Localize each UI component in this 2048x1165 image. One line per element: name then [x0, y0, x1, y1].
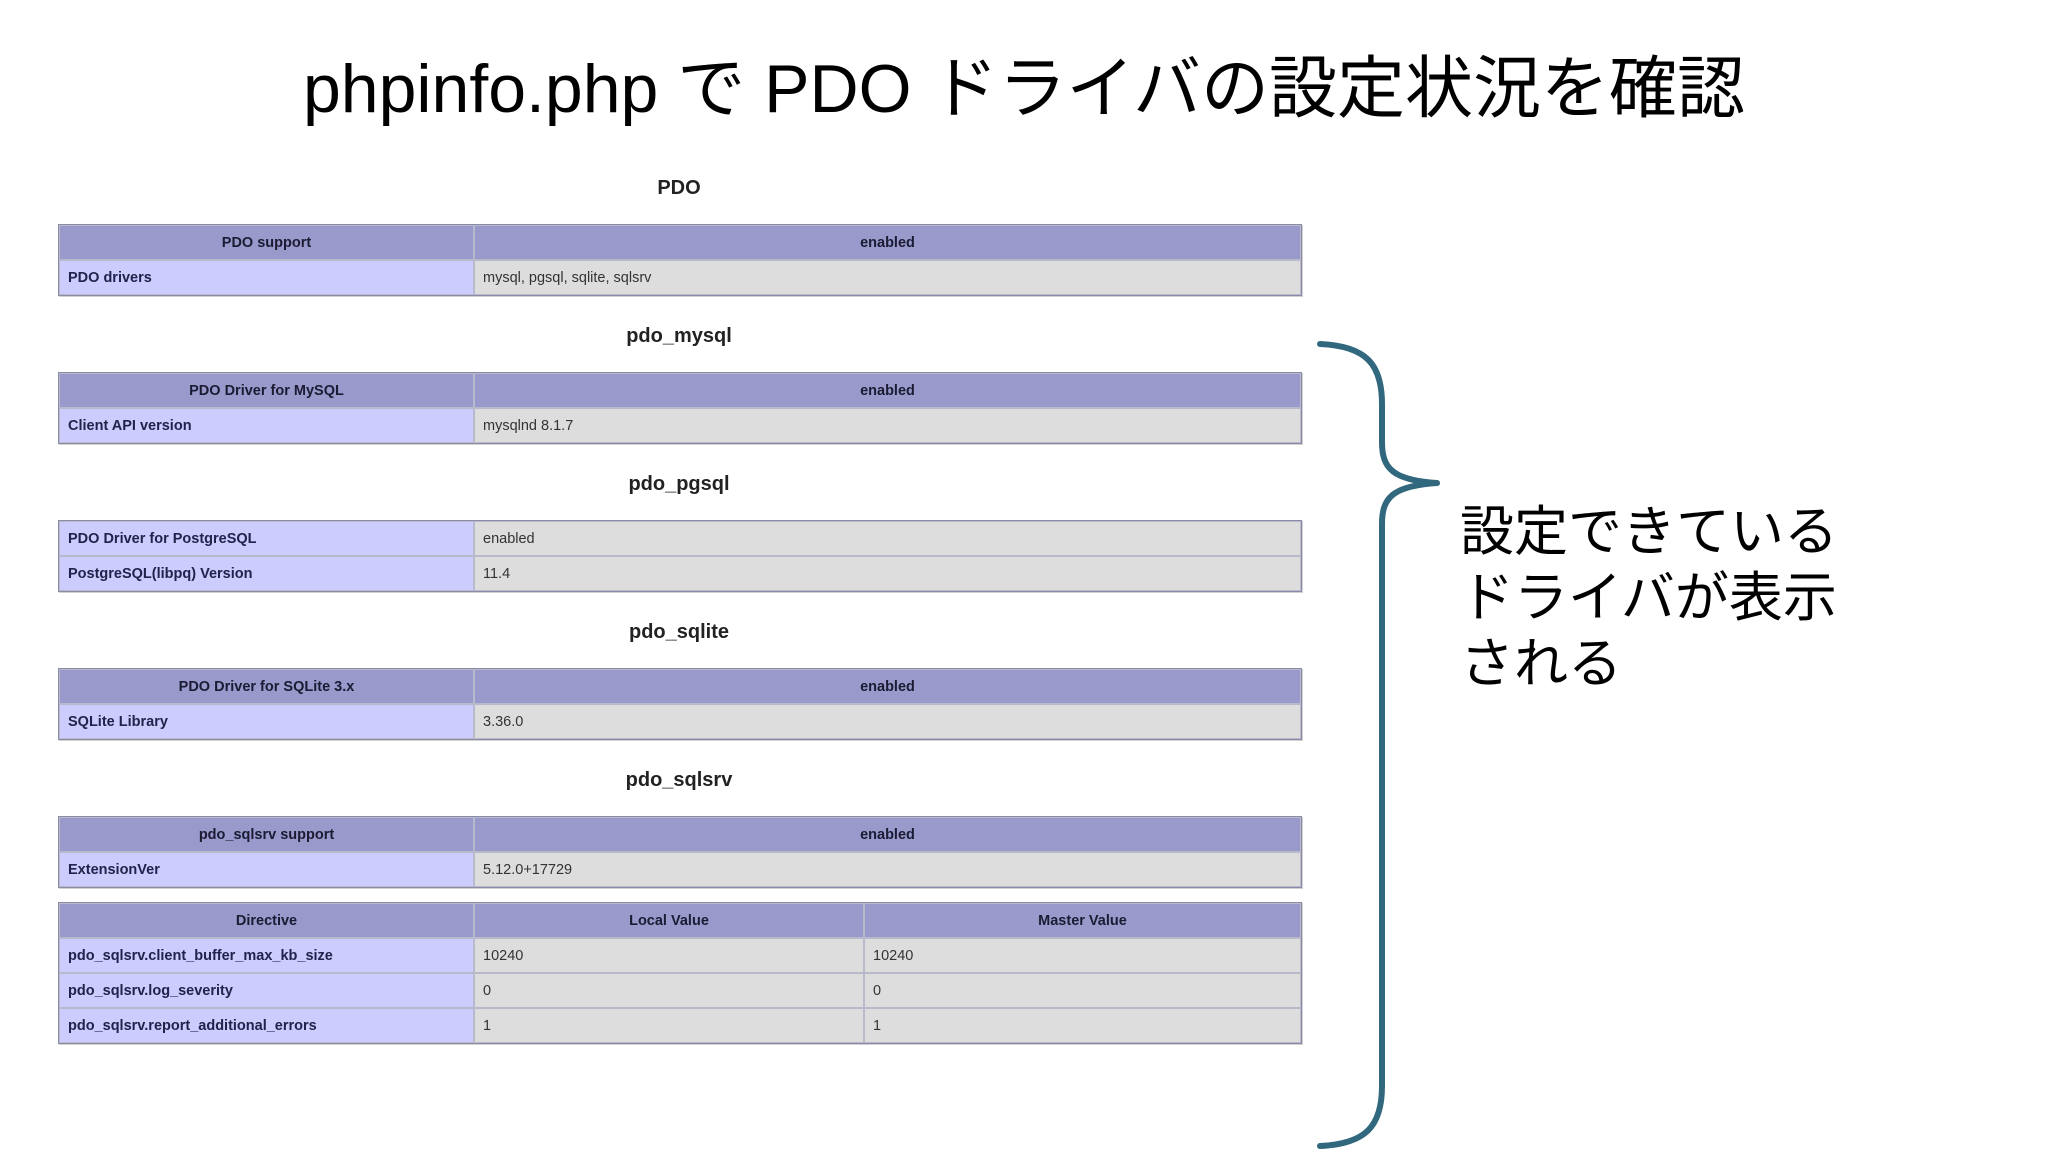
table-pdo-sqlite: PDO Driver for SQLite 3.x enabled SQLite…	[58, 668, 1302, 740]
section-heading-pdo-sqlsrv: pdo_sqlsrv	[58, 770, 1300, 790]
table-pdo: PDO support enabled PDO drivers mysql, p…	[58, 224, 1302, 296]
row-label: Client API version	[59, 408, 474, 443]
header-cell-local-value: Local Value	[474, 903, 864, 938]
table-header-row: PDO Driver for SQLite 3.x enabled	[59, 669, 1301, 704]
table-row: PDO Driver for PostgreSQL enabled	[59, 521, 1301, 556]
row-label: ExtensionVer	[59, 852, 474, 887]
table-row: PostgreSQL(libpq) Version 11.4	[59, 556, 1301, 591]
annotation-line-1: 設定できている	[1460, 500, 1980, 566]
header-cell-label: PDO Driver for SQLite 3.x	[59, 669, 474, 704]
table-row: PDO drivers mysql, pgsql, sqlite, sqlsrv	[59, 260, 1301, 295]
row-label: PDO drivers	[59, 260, 474, 295]
row-directive: pdo_sqlsrv.client_buffer_max_kb_size	[59, 938, 474, 973]
row-value: 3.36.0	[474, 704, 1301, 739]
table-pdo-sqlsrv: pdo_sqlsrv support enabled ExtensionVer …	[58, 816, 1302, 888]
table-pdo-pgsql: PDO Driver for PostgreSQL enabled Postgr…	[58, 520, 1302, 592]
right-curly-brace-icon	[1292, 330, 1472, 1160]
header-cell-directive: Directive	[59, 903, 474, 938]
row-label: SQLite Library	[59, 704, 474, 739]
header-cell-label: PDO support	[59, 225, 474, 260]
annotation-brace	[1292, 330, 1472, 1160]
header-cell-value: enabled	[474, 817, 1301, 852]
row-master-value: 1	[864, 1008, 1301, 1043]
row-directive: pdo_sqlsrv.report_additional_errors	[59, 1008, 474, 1043]
table-header-row: PDO support enabled	[59, 225, 1301, 260]
row-value: mysql, pgsql, sqlite, sqlsrv	[474, 260, 1301, 295]
section-heading-pdo-mysql: pdo_mysql	[58, 326, 1300, 346]
header-cell-value: enabled	[474, 373, 1301, 408]
row-value: mysqlnd 8.1.7	[474, 408, 1301, 443]
table-pdo-sqlsrv-directives: Directive Local Value Master Value pdo_s…	[58, 902, 1302, 1044]
row-master-value: 0	[864, 973, 1301, 1008]
row-label: PDO Driver for PostgreSQL	[59, 521, 474, 556]
header-cell-master-value: Master Value	[864, 903, 1301, 938]
annotation-line-3: される	[1460, 632, 1980, 698]
row-local-value: 1	[474, 1008, 864, 1043]
table-header-row: Directive Local Value Master Value	[59, 903, 1301, 938]
page-title: phpinfo.php で PDO ドライバの設定状況を確認	[0, 52, 2048, 127]
table-row: pdo_sqlsrv.client_buffer_max_kb_size 102…	[59, 938, 1301, 973]
row-master-value: 10240	[864, 938, 1301, 973]
table-row: SQLite Library 3.36.0	[59, 704, 1301, 739]
section-heading-pdo: PDO	[58, 178, 1300, 198]
row-directive: pdo_sqlsrv.log_severity	[59, 973, 474, 1008]
section-heading-pdo-sqlite: pdo_sqlite	[58, 622, 1300, 642]
row-value: enabled	[474, 521, 1301, 556]
row-local-value: 10240	[474, 938, 864, 973]
header-cell-value: enabled	[474, 669, 1301, 704]
table-pdo-mysql: PDO Driver for MySQL enabled Client API …	[58, 372, 1302, 444]
table-row: Client API version mysqlnd 8.1.7	[59, 408, 1301, 443]
phpinfo-output: PDO PDO support enabled PDO drivers mysq…	[58, 178, 1300, 1044]
row-label: PostgreSQL(libpq) Version	[59, 556, 474, 591]
header-cell-label: pdo_sqlsrv support	[59, 817, 474, 852]
header-cell-value: enabled	[474, 225, 1301, 260]
row-value: 11.4	[474, 556, 1301, 591]
annotation-line-2: ドライバが表示	[1460, 566, 1980, 632]
row-local-value: 0	[474, 973, 864, 1008]
row-value: 5.12.0+17729	[474, 852, 1301, 887]
table-header-row: pdo_sqlsrv support enabled	[59, 817, 1301, 852]
table-row: pdo_sqlsrv.report_additional_errors 1 1	[59, 1008, 1301, 1043]
header-cell-label: PDO Driver for MySQL	[59, 373, 474, 408]
table-row: pdo_sqlsrv.log_severity 0 0	[59, 973, 1301, 1008]
table-header-row: PDO Driver for MySQL enabled	[59, 373, 1301, 408]
table-row: ExtensionVer 5.12.0+17729	[59, 852, 1301, 887]
section-heading-pdo-pgsql: pdo_pgsql	[58, 474, 1300, 494]
annotation-text: 設定できている ドライバが表示 される	[1460, 500, 1980, 698]
